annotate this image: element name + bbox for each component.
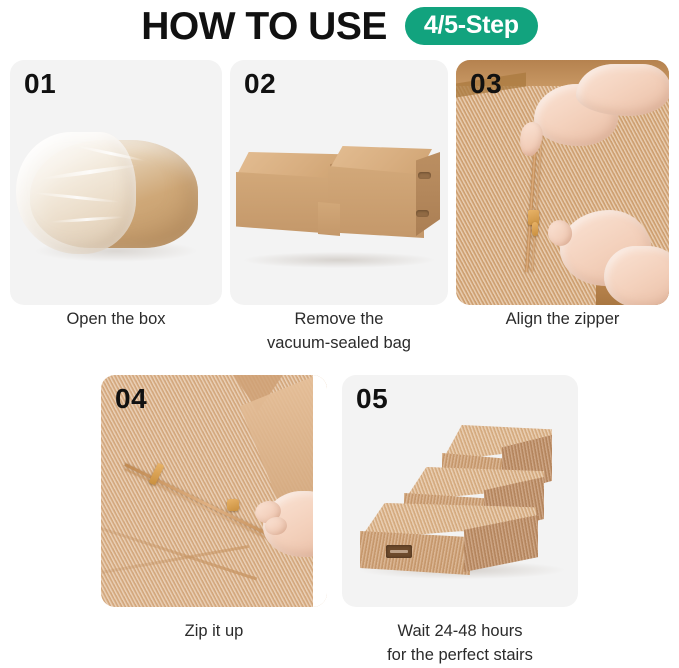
zipper-slider xyxy=(227,499,239,511)
forearm-upper xyxy=(576,64,669,116)
step-number-03: 03 xyxy=(470,70,502,98)
box-drop-shadow xyxy=(244,252,434,268)
step-number-01: 01 xyxy=(24,70,56,98)
step-number-04: 04 xyxy=(115,385,147,413)
step-caption-02-line2: vacuum-sealed bag xyxy=(230,332,448,356)
step-caption-04: Zip it up xyxy=(101,620,327,644)
step-caption-03: Align the zipper xyxy=(456,308,669,332)
step-card-01[interactable]: 01 xyxy=(10,60,222,305)
box-handle-icon xyxy=(418,172,431,179)
forearm-lower xyxy=(604,246,669,305)
zipper-pull-tab xyxy=(532,222,538,236)
foam-block-notch xyxy=(318,202,340,236)
step-card-05[interactable]: 05 xyxy=(342,375,578,607)
step-caption-05: Wait 24-48 hours for the perfect stairs xyxy=(342,620,578,668)
step-card-03[interactable]: 03 xyxy=(456,60,669,305)
box-handle-icon xyxy=(416,210,429,217)
card-right-gutter xyxy=(313,375,327,607)
step-number-02: 02 xyxy=(244,70,276,98)
page-title: HOW TO USE xyxy=(141,7,387,46)
step-number-05: 05 xyxy=(356,385,388,413)
header: HOW TO USE 4/5-Step xyxy=(0,0,679,52)
step-caption-05-line2: for the perfect stairs xyxy=(342,644,578,668)
step-card-02[interactable]: 02 xyxy=(230,60,448,305)
step-count-badge: 4/5-Step xyxy=(405,7,538,45)
step-card-04[interactable]: 04 xyxy=(101,375,327,607)
step-caption-05-line1: Wait 24-48 hours xyxy=(342,620,578,644)
step-caption-02: Remove the vacuum-sealed bag xyxy=(230,308,448,356)
step-caption-01: Open the box xyxy=(10,308,222,332)
vacuum-sealed-bag-illustration xyxy=(16,122,216,272)
brand-label-tag xyxy=(386,545,412,558)
step-caption-02-line1: Remove the xyxy=(230,308,448,332)
